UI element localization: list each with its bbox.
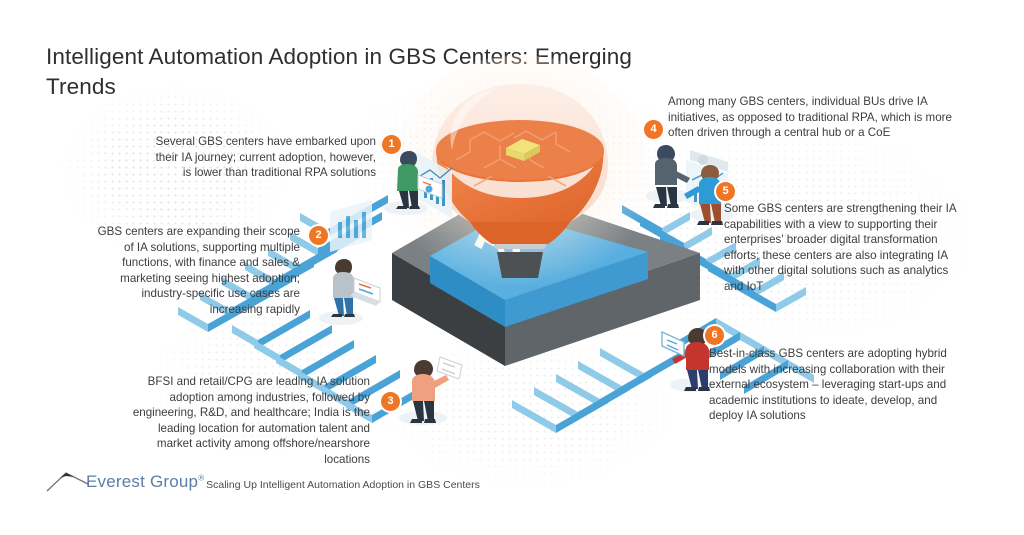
callout-6-text: Best-in-class GBS centers are adopting h… <box>709 346 961 424</box>
bulb-circuit-trace <box>456 131 570 186</box>
logo-text: Everest Group <box>86 472 198 491</box>
callout-1-text: Several GBS centers have embarked upon t… <box>148 134 376 181</box>
person-grey-top-laptop <box>331 259 380 317</box>
infographic-canvas: Intelligent Automation Adoption in GBS C… <box>0 0 1024 535</box>
callout-5-badge[interactable]: 5 <box>716 182 735 201</box>
footer: Everest Group® Scaling Up Intelligent Au… <box>46 470 480 492</box>
lightbulb-icon <box>432 84 608 278</box>
callout-2-badge[interactable]: 2 <box>309 226 328 245</box>
bar-chart-panel-left-2 <box>330 200 372 252</box>
page-title: Intelligent Automation Adoption in GBS C… <box>46 42 686 102</box>
registered-mark: ® <box>198 474 204 483</box>
everest-group-wordmark: Everest Group® <box>86 473 204 492</box>
callout-6-badge[interactable]: 6 <box>705 326 724 345</box>
presentation-panel-right <box>690 150 728 172</box>
background-dot-pattern-center-bottom <box>380 330 680 490</box>
callout-5-text: Some GBS centers are strengthening their… <box>724 201 968 295</box>
person-slate-jacket <box>653 145 690 208</box>
callout-4-badge[interactable]: 4 <box>644 120 663 139</box>
callout-4-text: Among many GBS centers, individual BUs d… <box>668 94 964 141</box>
everest-peak-icon <box>46 470 90 492</box>
filament-chip-icon <box>506 139 540 161</box>
person-peach-top <box>410 357 462 423</box>
ai-chip-icon: AI <box>392 188 700 366</box>
callout-3-badge[interactable]: 3 <box>381 392 400 411</box>
callout-2-text: GBS centers are expanding their scope of… <box>92 224 300 318</box>
callout-3-text: BFSI and retail/CPG are leading IA solut… <box>132 374 370 468</box>
person-red-top-tablet <box>662 328 710 391</box>
chip-label-text: AI <box>473 197 524 283</box>
footer-tagline: Scaling Up Intelligent Automation Adopti… <box>206 479 480 492</box>
person-green-jacket <box>396 151 442 209</box>
bar-chart-panel-left <box>416 152 452 218</box>
callout-1-badge[interactable]: 1 <box>382 135 401 154</box>
